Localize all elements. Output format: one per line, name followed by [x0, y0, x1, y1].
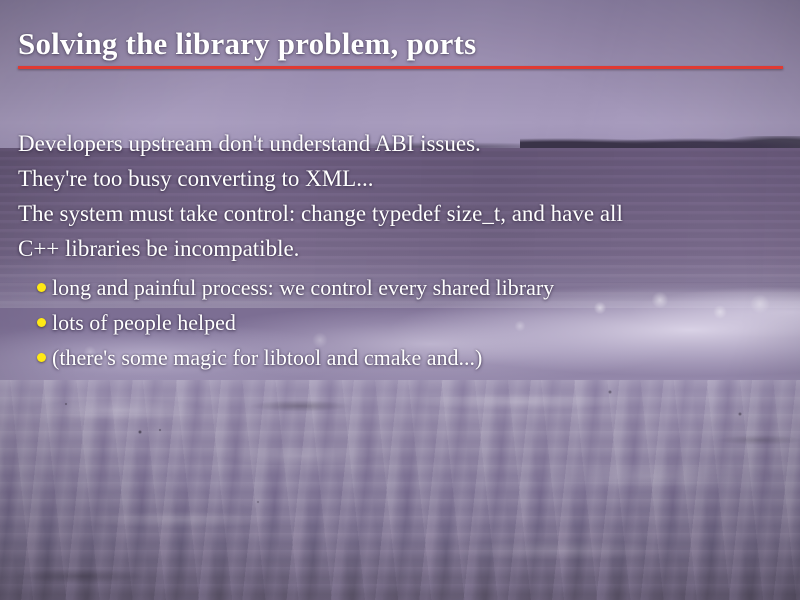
bullet-dot-icon — [37, 318, 46, 327]
bullet-dot-icon — [37, 353, 46, 362]
presentation-slide: Solving the library problem, ports Devel… — [0, 0, 800, 600]
list-item-label: (there's some magic for libtool and cmak… — [52, 345, 482, 370]
slide-body: Developers upstream don't understand ABI… — [18, 126, 782, 375]
body-line: They're too busy converting to XML... — [18, 161, 782, 196]
list-item: (there's some magic for libtool and cmak… — [18, 340, 782, 375]
body-line: C++ libraries be incompatible. — [18, 231, 782, 266]
slide-content: Solving the library problem, ports Devel… — [0, 0, 800, 600]
list-item: lots of people helped — [18, 305, 782, 340]
body-line: Developers upstream don't understand ABI… — [18, 126, 782, 161]
bullet-dot-icon — [37, 283, 46, 292]
bullet-list: long and painful process: we control eve… — [18, 270, 782, 375]
list-item: long and painful process: we control eve… — [18, 270, 782, 305]
title-underline-rule — [18, 66, 783, 69]
slide-title: Solving the library problem, ports — [18, 26, 476, 62]
body-line: The system must take control: change typ… — [18, 196, 782, 231]
list-item-label: lots of people helped — [52, 310, 236, 335]
list-item-label: long and painful process: we control eve… — [52, 275, 554, 300]
